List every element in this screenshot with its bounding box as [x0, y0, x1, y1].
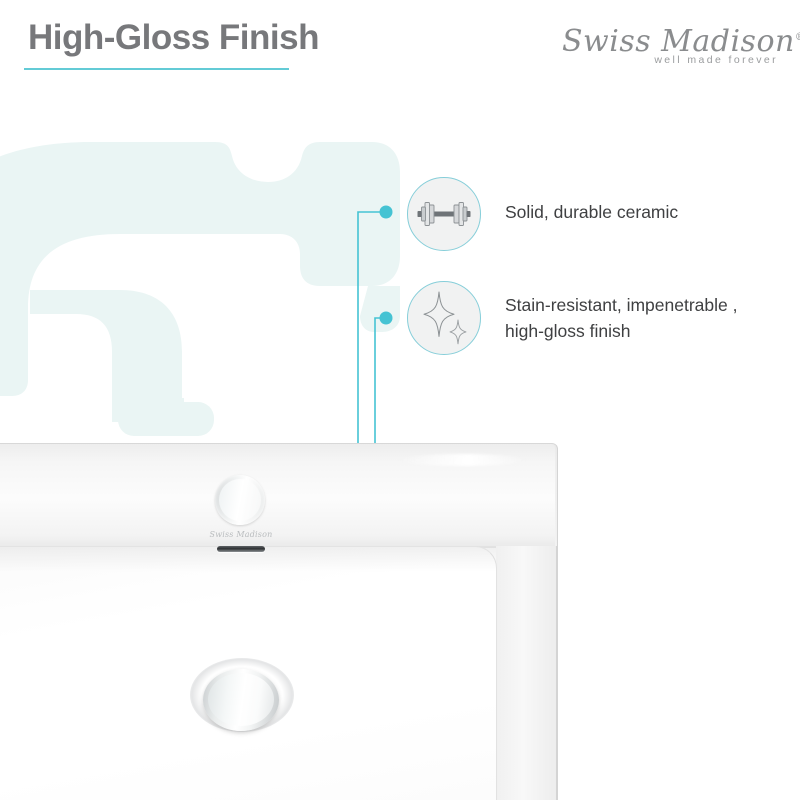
- sparkle-shine-icon: [416, 290, 472, 346]
- page-title: High-Gloss Finish: [28, 18, 319, 58]
- brand-name: Swiss Madison®: [562, 22, 782, 58]
- sink-rim: [0, 444, 555, 548]
- sink-etched-brand: Swiss Madison: [205, 530, 277, 539]
- feature-callout-durable: Solid, durable ceramic: [407, 177, 678, 251]
- feature-icon-badge: [407, 177, 481, 251]
- feature-icon-badge: [407, 281, 481, 355]
- dumbbell-icon: [416, 198, 472, 230]
- sink-rim-gloss: [397, 454, 527, 466]
- overflow-slot: [217, 546, 265, 552]
- faucet-silhouette-icon: [0, 130, 420, 460]
- feature-callout-gloss: Stain-resistant, impenetrable , high-glo…: [407, 281, 737, 355]
- faucet-hole-inner: [219, 479, 261, 521]
- feature-label: Stain-resistant, impenetrable , high-glo…: [505, 292, 737, 344]
- title-underline: [24, 68, 289, 70]
- faucet-hole: [215, 475, 265, 525]
- drain: [203, 669, 279, 731]
- drain-cap: [208, 673, 274, 726]
- product-sink-image: Swiss Madison: [0, 440, 560, 800]
- sink-right-wall: [496, 546, 557, 800]
- registered-trademark-icon: ®: [795, 32, 800, 43]
- brand-logo: Swiss Madison® well made forever: [562, 22, 782, 74]
- connector-dot-1: [380, 206, 393, 219]
- infographic-canvas: High-Gloss Finish Swiss Madison® well ma…: [0, 0, 800, 800]
- feature-label: Solid, durable ceramic: [505, 199, 678, 225]
- connector-dot-2: [380, 312, 393, 325]
